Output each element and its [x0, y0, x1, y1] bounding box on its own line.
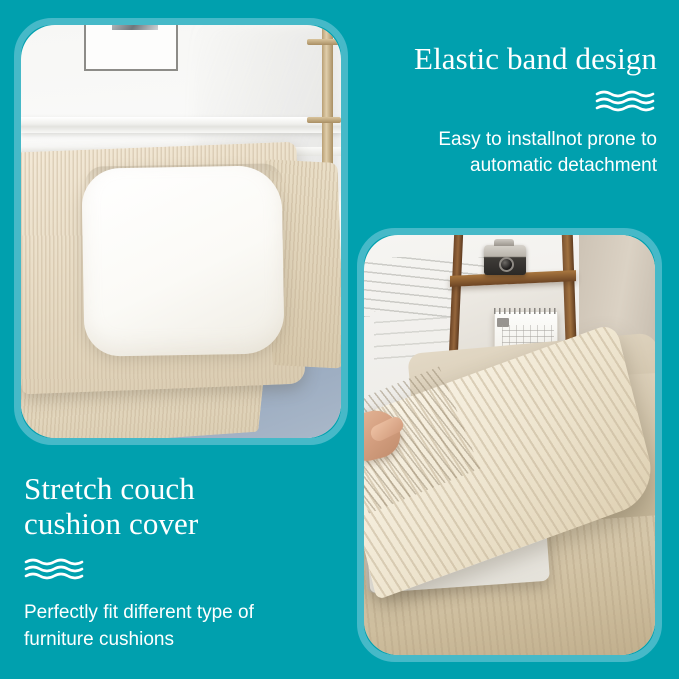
furniture-rod-joint-top: [307, 39, 341, 45]
picture-frame-art: [112, 25, 158, 30]
calendar-spiral-binding: [494, 308, 558, 314]
wave-divider-icon: [369, 89, 657, 113]
wave-divider-icon: [24, 557, 324, 581]
camera-lens: [499, 257, 514, 272]
photo-left: [21, 25, 341, 438]
photo-right-scene: [364, 235, 655, 655]
infographic-canvas: Elastic band design Easy to installnot p…: [0, 0, 679, 679]
headline-elastic-band-design: Elastic band design: [369, 42, 657, 77]
photo-right: [364, 235, 655, 655]
subtext-perfectly-fit: Perfectly fit different type of furnitur…: [24, 600, 324, 652]
picture-frame: [84, 25, 178, 71]
panel-top-right-text: Elastic band design Easy to installnot p…: [369, 42, 657, 179]
subtext-easy-to-install: Easy to installnot prone to automatic de…: [369, 127, 657, 179]
furniture-rod-joint-bottom: [307, 117, 341, 123]
photo-left-scene: [21, 25, 341, 438]
wall-molding: [21, 117, 341, 133]
headline-stretch-couch-cushion-cover: Stretch couch cushion cover: [24, 472, 324, 541]
foam-cushion: [81, 165, 284, 356]
furniture-rod: [322, 25, 333, 177]
panel-bottom-left-text: Stretch couch cushion cover Perfectly fi…: [24, 472, 324, 653]
camera-viewfinder: [494, 239, 514, 246]
